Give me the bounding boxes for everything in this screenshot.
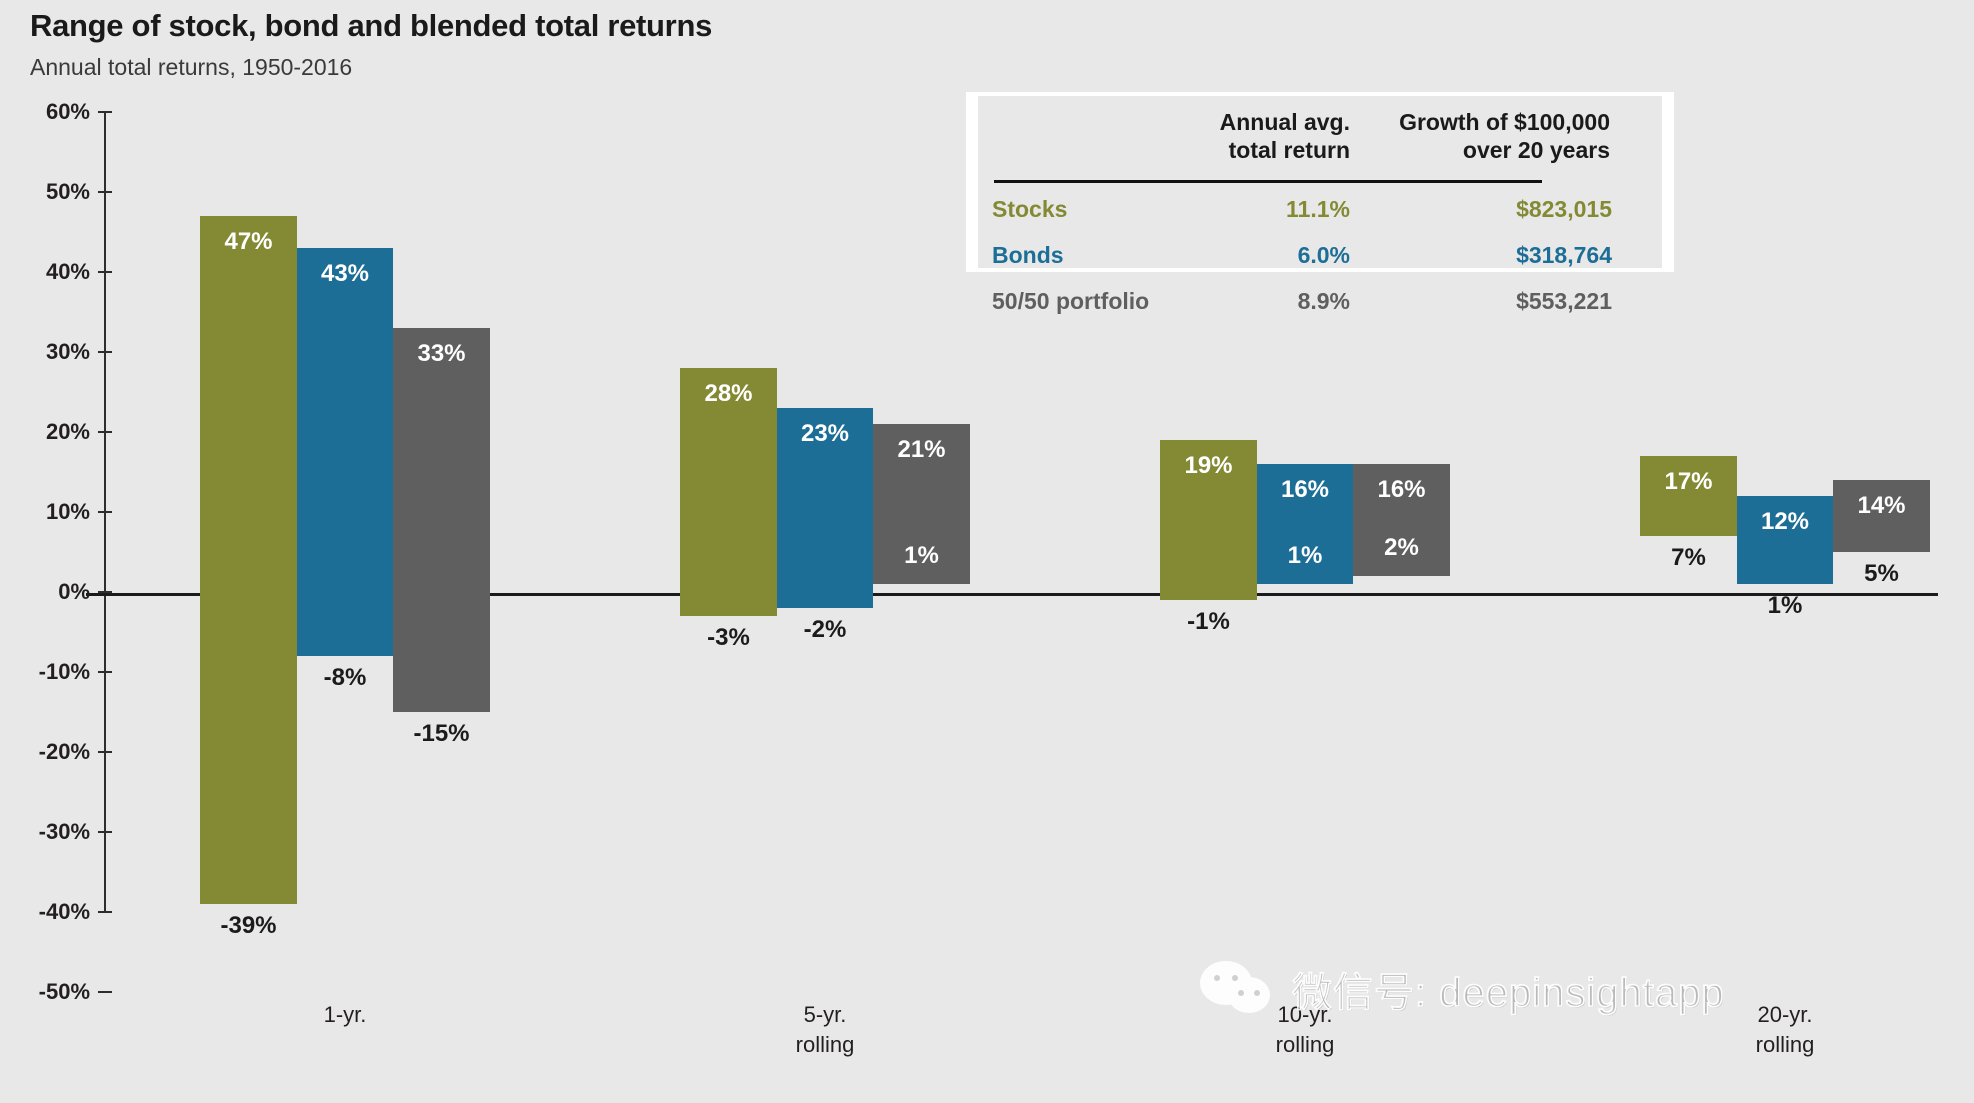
summary-col-header-growth: Growth of $100,000 over 20 years	[1340, 108, 1610, 164]
y-axis-tick-label: -20%	[20, 739, 90, 765]
bar-max-label: 47%	[200, 228, 297, 256]
bar-max-label: 28%	[680, 380, 777, 408]
y-axis-tick-mark	[98, 351, 112, 353]
bar-min-label: 1%	[1257, 542, 1353, 570]
y-axis-tick-label: 20%	[20, 419, 90, 445]
summary-row-avg-return: 6.0%	[1150, 242, 1350, 269]
bar-max-label: 16%	[1257, 476, 1353, 504]
summary-row-growth: $553,221	[1390, 288, 1612, 315]
y-axis-tick-label: -40%	[20, 899, 90, 925]
y-axis-tick-mark	[98, 991, 112, 993]
y-axis-tick-mark	[98, 271, 112, 273]
x-axis-tick-label: 10-yr. rolling	[1205, 1000, 1405, 1060]
summary-row-avg-return: 8.9%	[1150, 288, 1350, 315]
bar-bonds	[297, 248, 393, 656]
y-axis-tick-label: 0%	[20, 579, 90, 605]
y-axis-tick-mark	[98, 911, 112, 913]
summary-table-rule	[994, 180, 1542, 183]
x-axis-tick-label: 5-yr. rolling	[725, 1000, 925, 1060]
bar-min-label: -1%	[1160, 608, 1257, 636]
bar-min-label: -39%	[200, 912, 297, 940]
bar-max-label: 12%	[1737, 508, 1833, 536]
summary-row-name: 50/50 portfolio	[992, 288, 1149, 315]
bar-max-label: 33%	[393, 340, 490, 368]
summary-col-header-avg: Annual avg. total return	[1100, 108, 1350, 164]
y-axis-tick-label: -50%	[20, 979, 90, 1005]
bar-max-label: 19%	[1160, 452, 1257, 480]
bar-min-label: 1%	[873, 542, 970, 570]
y-axis-tick-mark	[98, 831, 112, 833]
y-axis-tick-label: -30%	[20, 819, 90, 845]
y-axis-tick-mark	[98, 751, 112, 753]
bar-min-label: -15%	[393, 720, 490, 748]
y-axis-tick-mark	[98, 431, 112, 433]
bar-blend	[393, 328, 490, 712]
y-axis-tick-mark	[98, 591, 112, 593]
x-axis-tick-label: 20-yr. rolling	[1685, 1000, 1885, 1060]
bar-max-label: 14%	[1833, 492, 1930, 520]
bar-min-label: -3%	[680, 624, 777, 652]
y-axis-tick-label: 10%	[20, 499, 90, 525]
y-axis-tick-mark	[98, 671, 112, 673]
y-axis-tick-mark	[98, 111, 112, 113]
bar-max-label: 21%	[873, 436, 970, 464]
bar-stocks	[200, 216, 297, 904]
bar-min-label: 7%	[1640, 544, 1737, 572]
bar-max-label: 23%	[777, 420, 873, 448]
y-axis-tick-label: 30%	[20, 339, 90, 365]
bar-min-label: 2%	[1353, 534, 1450, 562]
y-axis-tick-mark	[98, 191, 112, 193]
x-axis-tick-label: 1-yr.	[245, 1000, 445, 1030]
summary-row-name: Stocks	[992, 196, 1067, 223]
bar-min-label: 1%	[1737, 592, 1833, 620]
bar-max-label: 43%	[297, 260, 393, 288]
y-axis-tick-label: 40%	[20, 259, 90, 285]
y-axis-tick-mark	[98, 511, 112, 513]
summary-row-growth: $318,764	[1390, 242, 1612, 269]
y-axis-tick-label: 50%	[20, 179, 90, 205]
bar-min-label: -2%	[777, 616, 873, 644]
summary-row-growth: $823,015	[1390, 196, 1612, 223]
bar-min-label: -8%	[297, 664, 393, 692]
summary-row-avg-return: 11.1%	[1150, 196, 1350, 223]
bar-max-label: 16%	[1353, 476, 1450, 504]
summary-row-name: Bonds	[992, 242, 1064, 269]
y-axis-tick-label: 60%	[20, 99, 90, 125]
y-axis-tick-label: -10%	[20, 659, 90, 685]
bar-max-label: 17%	[1640, 468, 1737, 496]
bar-min-label: 5%	[1833, 560, 1930, 588]
